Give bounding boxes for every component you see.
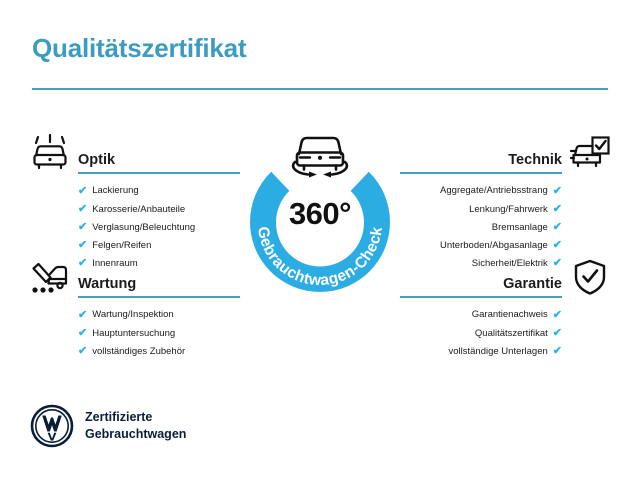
check-icon: ✔ (553, 204, 562, 215)
title-divider (32, 88, 608, 90)
list-item: ✔ Lackierung (28, 182, 224, 200)
list-item-label: vollständige Unterlagen (448, 347, 547, 357)
section-header-wartung: Wartung (28, 258, 224, 300)
list-item: vollständige Unterlagen ✔ (416, 342, 612, 360)
360-badge: Gebrauchtwagen-Check 360° (237, 140, 403, 306)
section-title-technik: Technik (508, 152, 562, 168)
section-header-optik: Optik (28, 134, 224, 176)
list-item-label: Karosserie/Anbauteile (92, 205, 185, 215)
list-item: Garantienachweis ✔ (416, 306, 612, 324)
check-icon: ✔ (78, 346, 87, 357)
section-garantie: Garantie Garantienachweis ✔ Qualitätszer… (416, 258, 612, 361)
list-item: Lenkung/Fahrwerk ✔ (416, 200, 612, 218)
page-title: Qualitätszertifikat (32, 33, 246, 64)
car-front-rotate-icon (284, 128, 356, 180)
certificate-page: Qualitätszertifikat Optik (0, 0, 640, 480)
list-item-label: vollständiges Zubehör (92, 347, 185, 357)
section-divider-wartung (78, 296, 240, 298)
section-title-garantie: Garantie (503, 276, 562, 292)
checklist-wartung: ✔ Wartung/Inspektion ✔ Hauptuntersuchung… (28, 300, 224, 361)
check-icon: ✔ (78, 240, 87, 251)
list-item-label: Verglasung/Beleuchtung (92, 223, 195, 233)
car-shine-icon (28, 134, 72, 172)
section-title-wartung: Wartung (78, 276, 136, 292)
vw-footer-line1: Zertifizierte (85, 409, 186, 426)
list-item-label: Felgen/Reifen (92, 241, 151, 251)
check-icon: ✔ (78, 186, 87, 197)
section-divider-optik (78, 172, 240, 174)
section-divider-technik (400, 172, 562, 174)
check-icon: ✔ (78, 310, 87, 321)
section-wartung: Wartung ✔ Wartung/Inspektion ✔ Hauptunte… (28, 258, 224, 361)
shield-check-icon (568, 258, 612, 296)
list-item: ✔ Karosserie/Anbauteile (28, 200, 224, 218)
badge-degrees-label: 360° (237, 196, 403, 232)
list-item: Aggregate/Antriebsstrang ✔ (416, 182, 612, 200)
list-item: Bremsanlage ✔ (416, 218, 612, 236)
check-icon: ✔ (553, 310, 562, 321)
check-icon: ✔ (553, 328, 562, 339)
list-item: ✔ Verglasung/Beleuchtung (28, 218, 224, 236)
vw-footer-line2: Gebrauchtwagen (85, 426, 186, 443)
check-icon: ✔ (78, 328, 87, 339)
check-icon: ✔ (78, 204, 87, 215)
section-title-optik: Optik (78, 152, 115, 168)
list-item: ✔ Wartung/Inspektion (28, 306, 224, 324)
list-item: Qualitätszertifikat ✔ (416, 324, 612, 342)
section-header-garantie: Garantie (416, 258, 612, 300)
list-item-label: Wartung/Inspektion (92, 310, 174, 320)
section-technik: Technik Aggregate/Antriebsstrang ✔ Lenku… (416, 134, 612, 273)
list-item-label: Qualitätszertifikat (475, 329, 548, 339)
list-item-label: Hauptuntersuchung (92, 329, 175, 339)
vw-footer-text: Zertifizierte Gebrauchtwagen (85, 409, 186, 443)
check-icon: ✔ (553, 222, 562, 233)
checklist-garantie: Garantienachweis ✔ Qualitätszertifikat ✔… (416, 300, 612, 361)
list-item-label: Unterboden/Abgasanlage (440, 241, 548, 251)
section-divider-garantie (400, 296, 562, 298)
list-item-label: Aggregate/Antriebsstrang (440, 186, 548, 196)
check-icon: ✔ (553, 240, 562, 251)
car-pencil-service-icon (28, 258, 72, 296)
list-item: ✔ vollständiges Zubehör (28, 342, 224, 360)
list-item-label: Lenkung/Fahrwerk (469, 205, 548, 215)
list-item: ✔ Felgen/Reifen (28, 237, 224, 255)
list-item: Unterboden/Abgasanlage ✔ (416, 237, 612, 255)
list-item-label: Bremsanlage (492, 223, 548, 233)
list-item-label: Lackierung (92, 186, 138, 196)
check-icon: ✔ (78, 222, 87, 233)
car-checkbox-icon (568, 134, 612, 172)
list-item: ✔ Hauptuntersuchung (28, 324, 224, 342)
list-item-label: Garantienachweis (472, 310, 548, 320)
vw-footer: Zertifizierte Gebrauchtwagen (30, 404, 186, 448)
section-header-technik: Technik (416, 134, 612, 176)
check-icon: ✔ (553, 186, 562, 197)
volkswagen-logo (30, 404, 74, 448)
check-icon: ✔ (553, 346, 562, 357)
section-optik: Optik ✔ Lackierung ✔ Karosserie/Anbautei… (28, 134, 224, 273)
